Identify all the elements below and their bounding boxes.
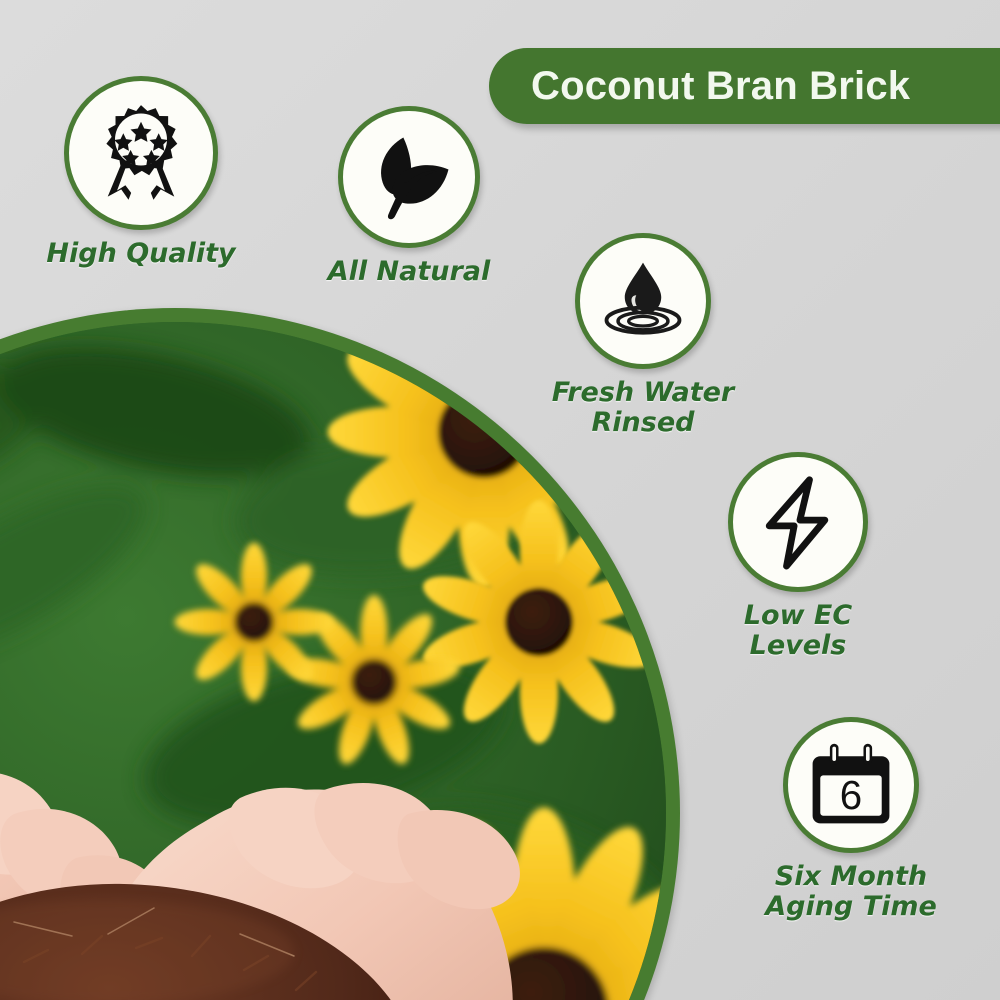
- feature-badge-circle: [728, 452, 868, 592]
- feature-badge-circle: [64, 76, 218, 230]
- two-leaves-icon: [362, 130, 456, 224]
- feature-low-ec-levels: Low EC Levels: [700, 452, 896, 661]
- product-infographic: Coconut Bran Brick: [0, 0, 1000, 1000]
- water-drop-ripple-icon: [595, 253, 691, 349]
- feature-all-natural: All Natural: [296, 106, 522, 287]
- feature-label: All Natural: [296, 257, 522, 287]
- feature-label: Fresh Water Rinsed: [540, 378, 746, 438]
- feature-badge-circle: [575, 233, 711, 369]
- calendar-icon: 6: [803, 737, 899, 833]
- award-rosette-icon: [89, 101, 193, 205]
- feature-badge-circle: 6: [783, 717, 919, 853]
- feature-label: High Quality: [28, 239, 254, 269]
- feature-high-quality: High Quality: [28, 76, 254, 269]
- feature-badge-circle: [338, 106, 480, 248]
- feature-label: Low EC Levels: [700, 601, 896, 661]
- calendar-number: 6: [840, 772, 862, 818]
- page-title: Coconut Bran Brick: [531, 64, 910, 109]
- product-title-banner: Coconut Bran Brick: [489, 48, 1000, 124]
- lightning-bolt-icon: [750, 474, 846, 570]
- feature-fresh-water-rinsed: Fresh Water Rinsed: [540, 233, 746, 438]
- feature-six-month-aging-time: 6 Six Month Aging Time: [752, 717, 950, 922]
- feature-label: Six Month Aging Time: [752, 862, 950, 922]
